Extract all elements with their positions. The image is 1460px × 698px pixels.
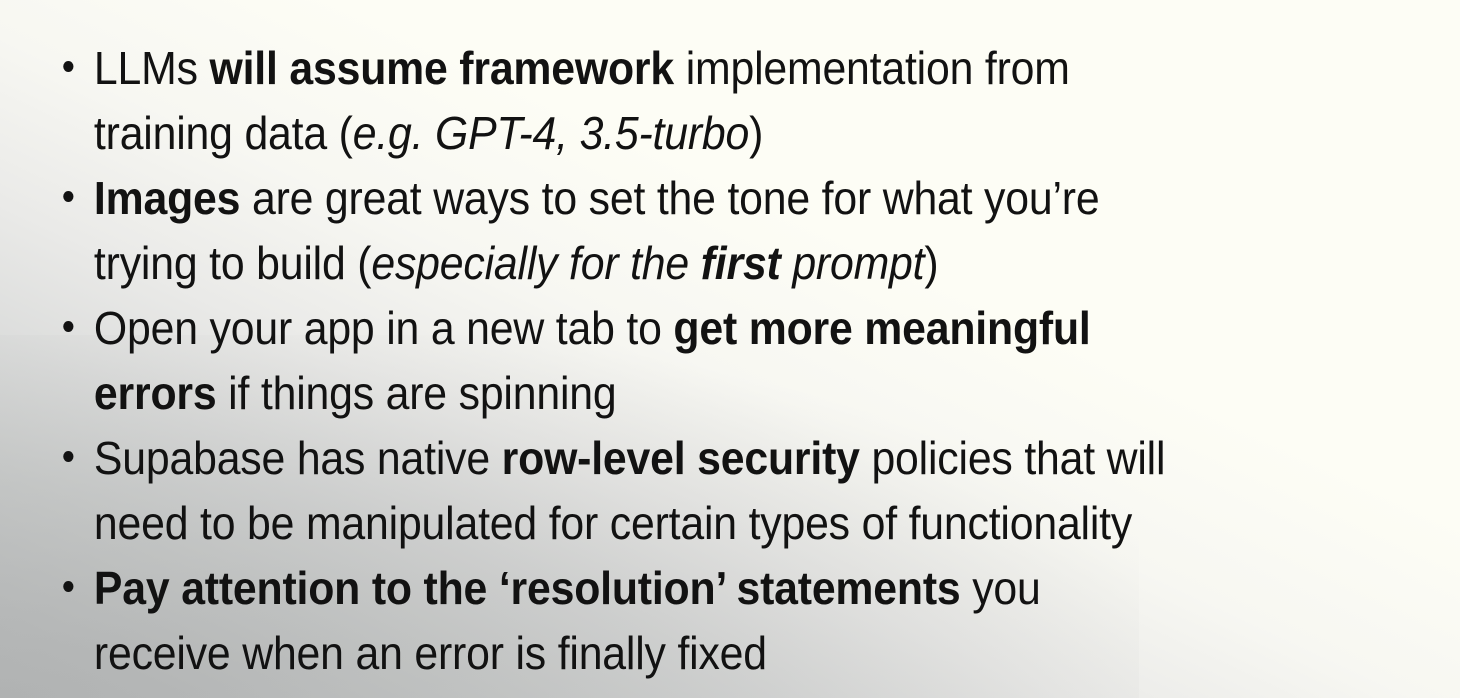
bullet-dot-icon: [63, 321, 73, 332]
bullet-list: LLMs will assume framework implementatio…: [0, 0, 1460, 686]
text-run: trying to build (: [94, 237, 371, 289]
bullet-line: Images are great ways to set the tone fo…: [94, 166, 1336, 231]
bullet-dot-icon: [63, 61, 73, 72]
text-run: Images: [94, 172, 240, 224]
text-run: are great ways to set the tone for what …: [240, 172, 1099, 224]
bullet-item-images-set-the-tone: Images are great ways to set the tone fo…: [0, 166, 1358, 296]
bullet-line: training data (e.g. GPT-4, 3.5-turbo): [94, 101, 1336, 166]
bullet-line: Open your app in a new tab to get more m…: [94, 296, 1336, 361]
bullet-item-llms-assume-framework: LLMs will assume framework implementatio…: [0, 36, 1358, 166]
text-run: prompt: [781, 237, 925, 289]
text-run: ): [749, 107, 763, 159]
bullet-item-open-app-new-tab: Open your app in a new tab to get more m…: [0, 296, 1358, 426]
text-run: Open your app in a new tab to: [94, 302, 673, 354]
text-run: receive when an error is finally fixed: [94, 627, 767, 679]
bullet-line: LLMs will assume framework implementatio…: [94, 36, 1336, 101]
text-run: LLMs: [94, 42, 210, 94]
text-run: if things are spinning: [216, 367, 616, 419]
bullet-item-resolution-statements: Pay attention to the ‘resolution’ statem…: [0, 556, 1358, 686]
bullet-line: Supabase has native row-level security p…: [94, 426, 1336, 491]
bullet-item-supabase-row-level-security: Supabase has native row-level security p…: [0, 426, 1358, 556]
text-run: you: [961, 562, 1041, 614]
text-run: errors: [94, 367, 217, 419]
bullet-line: need to be manipulated for certain types…: [94, 491, 1336, 556]
text-run: get more meaningful: [673, 302, 1090, 354]
slide-canvas: LLMs will assume framework implementatio…: [0, 0, 1460, 698]
text-run: policies that will: [860, 432, 1166, 484]
bullet-line: Pay attention to the ‘resolution’ statem…: [94, 556, 1336, 621]
bullet-dot-icon: [63, 581, 73, 592]
text-run: ): [924, 237, 938, 289]
text-run: row-level security: [502, 432, 860, 484]
text-run: especially for the: [371, 237, 700, 289]
text-run: Supabase has native: [94, 432, 502, 484]
text-run: e.g. GPT-4, 3.5-turbo: [353, 107, 749, 159]
text-run: need to be manipulated for certain types…: [94, 497, 1132, 549]
text-run: Pay attention to the ‘resolution’ statem…: [94, 562, 961, 614]
text-run: will assume framework: [209, 42, 674, 94]
text-run: first: [701, 237, 781, 289]
text-run: implementation from: [674, 42, 1070, 94]
bullet-line: trying to build (especially for the firs…: [94, 231, 1336, 296]
bullet-line: receive when an error is finally fixed: [94, 621, 1336, 686]
bullet-line: errors if things are spinning: [94, 361, 1336, 426]
bullet-dot-icon: [63, 451, 73, 462]
text-run: training data (: [94, 107, 353, 159]
bullet-dot-icon: [63, 191, 73, 202]
